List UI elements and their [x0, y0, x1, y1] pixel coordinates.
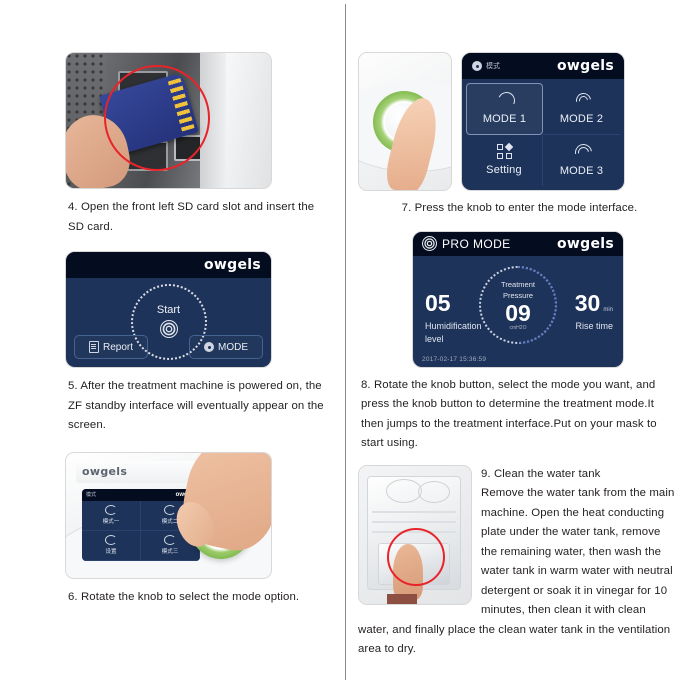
tank-ribs: [372, 511, 456, 513]
brand-logo: owgels: [557, 58, 614, 74]
step7-mode-screen: 模式 owgels MODE 1 MODE 2 Setting: [461, 52, 625, 191]
target-dot-icon: [204, 342, 214, 352]
mode-grid: MODE 1 MODE 2 Setting MODE 3: [462, 79, 624, 190]
report-button-label: Report: [103, 342, 133, 353]
pro-screen-header: PRO MODE owgels: [413, 232, 623, 256]
treatment-pressure-group[interactable]: Treatment Pressure 09 cmH2O: [479, 266, 557, 344]
brand-logo: owgels: [557, 236, 614, 252]
document-icon: [89, 341, 99, 353]
arc-triple-icon: [572, 144, 592, 160]
mini-cell-label: 模式三: [162, 547, 179, 555]
step4-caption: 4. Open the front left SD card slot and …: [68, 198, 333, 237]
mode-cell-mode2[interactable]: MODE 2: [543, 83, 620, 135]
rise-time-value-row: 30 min: [575, 292, 613, 315]
arc-single-icon: [105, 505, 117, 515]
brand-logo: owgels: [204, 257, 261, 273]
mode-cell-setting[interactable]: Setting: [466, 135, 543, 187]
mini-screen-title: 模式: [86, 491, 96, 498]
arc-triple-icon: [164, 535, 176, 545]
step7-row: 模式 owgels MODE 1 MODE 2 Setting: [358, 52, 678, 191]
column-divider: [345, 4, 346, 680]
target-icon: [422, 236, 437, 251]
squares-icon: [105, 535, 117, 545]
mode-cell-label: MODE 3: [560, 165, 603, 177]
squares-icon: [497, 144, 512, 159]
heat-conducting-plate: [387, 594, 417, 604]
start-label[interactable]: Start: [157, 304, 180, 316]
rise-time-value: 30: [575, 292, 601, 315]
step9-image: [358, 465, 472, 605]
tank-lid-right: [418, 481, 450, 503]
standby-body: Start Report MODE: [66, 278, 271, 367]
mini-cell-setting[interactable]: 设置: [82, 531, 141, 561]
rise-time-group[interactable]: 30 min Rise time: [575, 292, 613, 333]
mode-cell-label: Setting: [486, 164, 522, 176]
standby-button-row: Report MODE: [74, 335, 263, 359]
step6-caption: 6. Rotate the knob to select the mode op…: [68, 588, 333, 608]
mode-cell-label: MODE 1: [483, 113, 526, 125]
step7-knob-image: [358, 52, 452, 191]
screen-header: owgels: [66, 252, 271, 278]
mode-header-left: 模式: [472, 61, 500, 71]
pro-header-left: PRO MODE: [422, 236, 511, 251]
report-button[interactable]: Report: [74, 335, 148, 359]
pro-screen-body: 05 Humidification level Treatment Pressu…: [413, 256, 623, 367]
mini-cell-label: 设置: [105, 547, 116, 555]
step9-block: 9. Clean the water tank Remove the water…: [358, 465, 678, 660]
mode-cell-mode3[interactable]: MODE 3: [543, 135, 620, 187]
target-dot-icon: [472, 61, 482, 71]
pro-mode-title: PRO MODE: [442, 237, 511, 251]
right-column: 模式 owgels MODE 1 MODE 2 Setting: [358, 52, 678, 660]
step8-pro-screen: PRO MODE owgels 05 Humidification level …: [412, 231, 624, 368]
manual-page: 4. Open the front left SD card slot and …: [0, 0, 680, 685]
step4-image: [65, 52, 272, 189]
mode-screen-title: 模式: [486, 61, 500, 71]
step7-caption: 7. Press the knob to enter the mode inte…: [361, 199, 678, 219]
arc-single-icon: [495, 92, 515, 108]
mode-screen-header: 模式 owgels: [462, 53, 624, 79]
timestamp: 2017-02-17 15:36:59: [422, 356, 486, 363]
arc-double-icon: [572, 92, 592, 108]
rise-time-unit: min: [603, 307, 613, 313]
step8-caption: 8. Rotate the knob button, select the mo…: [361, 376, 678, 454]
device-side-panel: [226, 53, 272, 188]
step5-caption: 5. After the treatment machine is powere…: [68, 377, 333, 436]
rise-time-label: Rise time: [575, 320, 613, 333]
mode-button[interactable]: MODE: [189, 335, 263, 359]
step5-standby-screen: owgels Start Report MODE: [65, 251, 272, 368]
mode-button-label: MODE: [218, 342, 248, 353]
step6-image: owgels 模式 owgels 模式一 模式二: [65, 452, 272, 579]
mode-cell-label: MODE 2: [560, 113, 603, 125]
left-column: 4. Open the front left SD card slot and …: [65, 52, 333, 607]
arc-double-icon: [164, 505, 176, 515]
tank-lid-left: [386, 479, 422, 503]
finger: [393, 544, 423, 600]
mini-cell-mode1[interactable]: 模式一: [82, 501, 141, 531]
mini-cell-label: 模式一: [103, 517, 120, 525]
mini-screen-header: 模式 owgels: [82, 489, 200, 501]
mode-cell-mode1[interactable]: MODE 1: [466, 83, 543, 135]
